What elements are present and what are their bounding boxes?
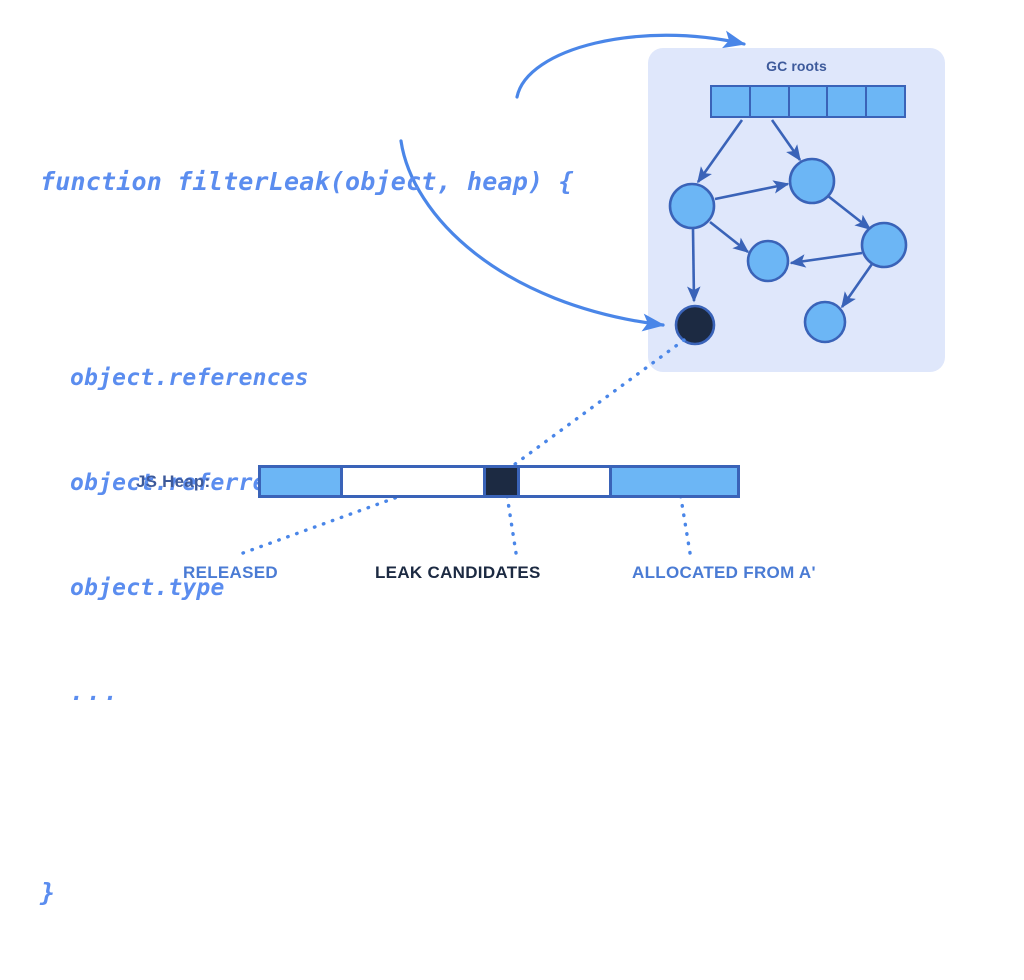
gc-root-cell[interactable] [790, 87, 829, 116]
gc-root-cell[interactable] [867, 87, 904, 116]
heap-segment-released[interactable] [261, 468, 343, 495]
code-line-signature: function filterLeak(object, heap) { [40, 164, 574, 199]
code-line-blank-1 [40, 269, 574, 291]
heap-node-4[interactable] [862, 223, 906, 267]
code-line-ellipsis: ... [40, 676, 574, 711]
gc-roots-bar [710, 85, 906, 118]
gc-root-cell[interactable] [712, 87, 751, 116]
heap-segment-free-a[interactable] [343, 468, 486, 495]
heap-node-3[interactable] [748, 241, 788, 281]
heap-node-5[interactable] [805, 302, 845, 342]
heap-node-1[interactable] [670, 184, 714, 228]
gc-roots-label: GC roots [648, 58, 945, 74]
edge-node1-to-leak [693, 229, 694, 301]
heap-segment-leak-candidates[interactable] [486, 468, 520, 495]
diagram-canvas: function filterLeak(object, heap) { obje… [0, 0, 1024, 602]
gc-root-cell[interactable] [828, 87, 867, 116]
gc-root-cell[interactable] [751, 87, 790, 116]
code-line-references: object.references [40, 361, 574, 396]
js-heap-label: JS Heap: [136, 472, 210, 492]
code-line-close-brace: } [40, 875, 574, 910]
heap-segment-free-b[interactable] [520, 468, 612, 495]
code-line-blank-2 [40, 781, 574, 805]
legend-allocated: ALLOCATED FROM A' [632, 563, 816, 583]
heap-node-2[interactable] [790, 159, 834, 203]
heap-segment-allocated[interactable] [612, 468, 737, 495]
legend-leak-candidates: LEAK CANDIDATES [375, 563, 541, 583]
code-snippet: function filterLeak(object, heap) { obje… [40, 94, 574, 980]
legend-released: RELEASED [183, 563, 278, 583]
js-heap-bar [258, 465, 740, 498]
leak-node[interactable] [676, 306, 714, 344]
